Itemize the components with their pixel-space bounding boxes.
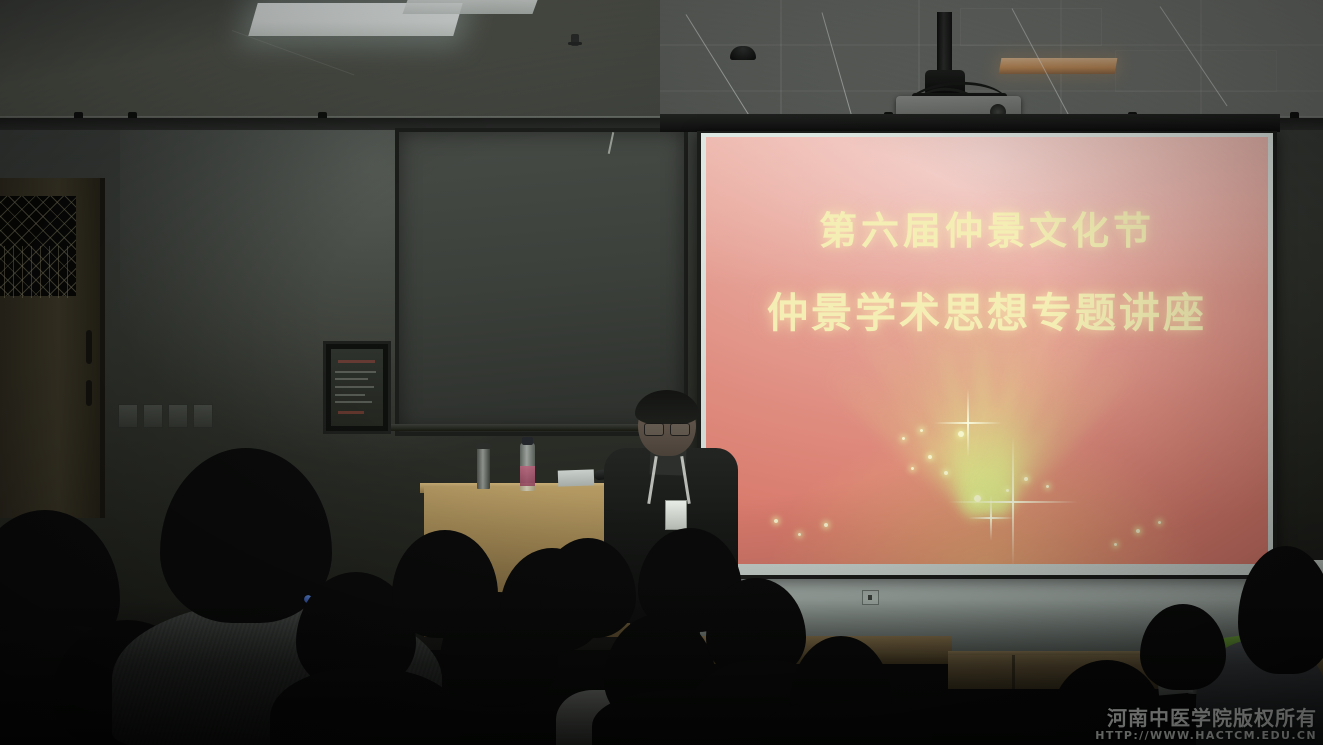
wall-switch-panel[interactable] bbox=[118, 404, 214, 426]
framed-notice-poster bbox=[323, 341, 391, 434]
speaker-name-badge bbox=[665, 500, 687, 530]
poster-content bbox=[331, 349, 383, 426]
sprinkler-head-icon bbox=[571, 34, 579, 46]
projector-mount-pole bbox=[937, 12, 952, 78]
wall-power-outlet bbox=[862, 590, 879, 605]
audience-body bbox=[762, 700, 932, 745]
door-handle[interactable] bbox=[86, 330, 92, 364]
door-lock-plate[interactable] bbox=[86, 380, 92, 406]
thermos-flask bbox=[477, 447, 490, 489]
ceiling-light-panel-secondary bbox=[402, 0, 537, 14]
water-bottle-label bbox=[520, 466, 535, 486]
wall-blackboard bbox=[395, 128, 688, 436]
projected-slide: 第六届仲景文化节 仲景学术思想专题讲座 bbox=[706, 137, 1268, 564]
water-bottle-cap bbox=[522, 437, 533, 445]
lecture-hall-photo: 第六届仲景文化节 仲景学术思想专题讲座 bbox=[0, 0, 1323, 745]
dome-security-camera-icon bbox=[730, 46, 756, 60]
speaker-glasses-icon bbox=[644, 423, 690, 434]
thermos-cap bbox=[476, 443, 491, 449]
papers-on-lectern bbox=[558, 469, 595, 486]
ceiling-light-strip-warm bbox=[999, 58, 1118, 74]
projection-screen-roller bbox=[660, 114, 1280, 132]
door-grille-bars bbox=[0, 246, 76, 298]
